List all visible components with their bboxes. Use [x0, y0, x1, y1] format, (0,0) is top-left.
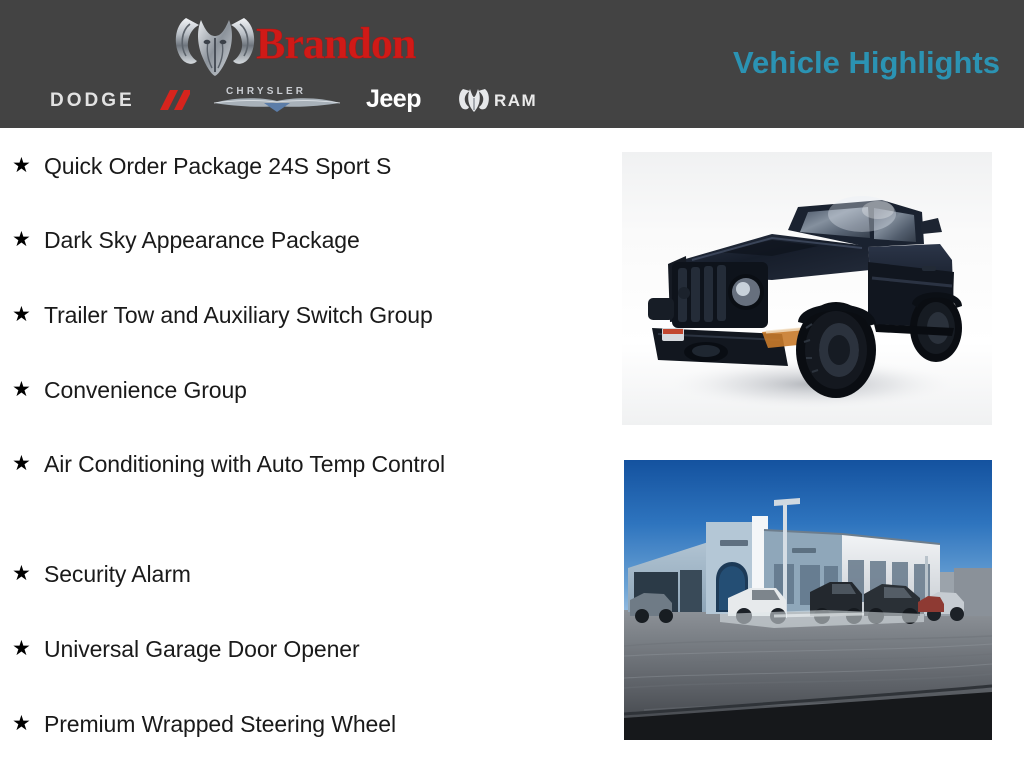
ram-head-logo-icon [172, 12, 258, 78]
dealer-branding: Brandon DODGE CHRYSLER [44, 8, 534, 120]
list-item: ★ Trailer Tow and Auxiliary Switch Group [12, 299, 588, 331]
jeep-logo-label: Jeep [366, 85, 421, 114]
list-item: ★ Premium Wrapped Steering Wheel [12, 708, 588, 740]
chrysler-logo-icon: CHRYSLER [212, 84, 342, 114]
star-icon: ★ [12, 374, 44, 406]
ram-logo-label: RAM [494, 91, 537, 111]
list-item: ★ Quick Order Package 24S Sport S [12, 150, 588, 182]
list-item-label: Premium Wrapped Steering Wheel [44, 708, 588, 740]
star-icon: ★ [12, 633, 44, 665]
star-icon: ★ [12, 150, 44, 182]
dodge-logo-label: DODGE [50, 90, 135, 112]
vehicle-exterior-photo [622, 152, 992, 425]
list-item-label: Convenience Group [44, 374, 588, 406]
vehicle-highlights-page: Brandon DODGE CHRYSLER [0, 0, 1024, 768]
list-item: ★ Convenience Group [12, 374, 588, 406]
list-item: ★ Dark Sky Appearance Package [12, 224, 588, 256]
list-item-label: Security Alarm [44, 558, 588, 590]
page-title: Vehicle Highlights [733, 45, 1000, 81]
star-icon: ★ [12, 558, 44, 590]
star-icon: ★ [12, 448, 44, 480]
dealer-logo-row: Brandon [44, 8, 534, 80]
dealer-name: Brandon [256, 20, 415, 68]
star-icon: ★ [12, 708, 44, 740]
list-item-label: Dark Sky Appearance Package [44, 224, 588, 256]
page-header: Brandon DODGE CHRYSLER [0, 0, 1024, 128]
list-item-label: Trailer Tow and Auxiliary Switch Group [44, 299, 588, 331]
star-icon: ★ [12, 299, 44, 331]
list-item: ★ Air Conditioning with Auto Temp Contro… [12, 448, 482, 480]
dealership-building-photo [624, 460, 992, 740]
list-item: ★ Security Alarm [12, 558, 588, 590]
list-item: ★ Universal Garage Door Opener [12, 633, 588, 665]
list-item-label: Quick Order Package 24S Sport S [44, 150, 588, 182]
list-item-label: Universal Garage Door Opener [44, 633, 588, 665]
star-icon: ★ [12, 224, 44, 256]
brand-logos-row: DODGE CHRYSLER [44, 84, 534, 118]
list-item-label: Air Conditioning with Auto Temp Control [44, 448, 482, 480]
